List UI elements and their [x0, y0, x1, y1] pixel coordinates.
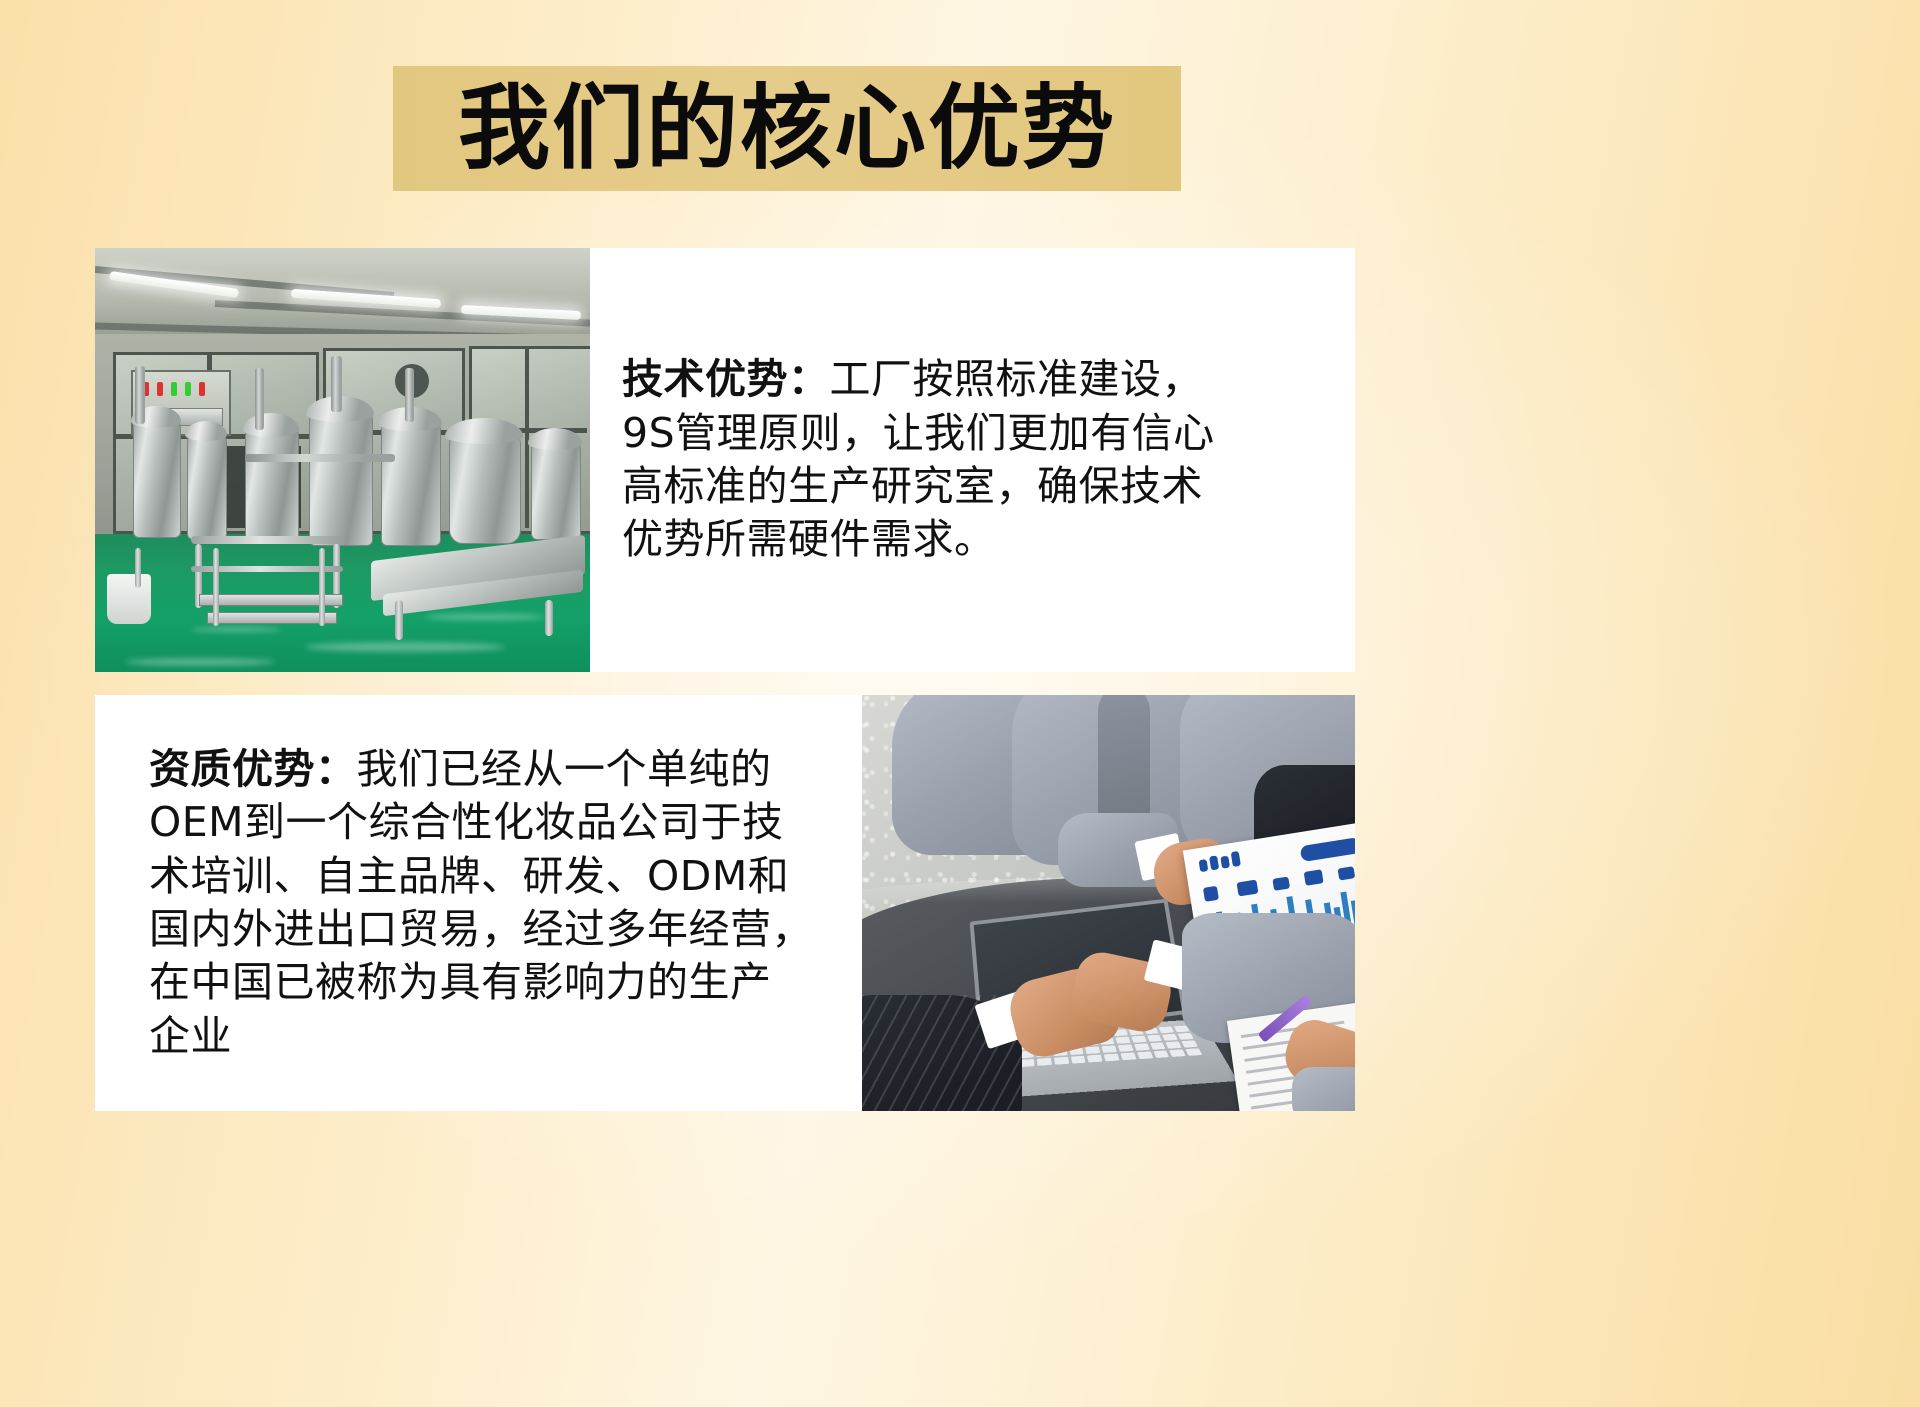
qualification-advantage-line-3: 术培训、自主品牌、研发、ODM和	[149, 850, 836, 903]
tech-advantage-paragraph: 技术优势：工厂按照标准建设， 9S管理原则，让我们更加有信心 高标准的生产研究室…	[622, 353, 1327, 566]
qualification-advantage-line-1: 资质优势：我们已经从一个单纯的	[149, 743, 836, 796]
qualification-advantage-line-5: 在中国已被称为具有影响力的生产	[149, 956, 836, 1009]
tech-advantage-line-3: 高标准的生产研究室，确保技术	[622, 460, 1327, 513]
advantage-card-tech: 技术优势：工厂按照标准建设， 9S管理原则，让我们更加有信心 高标准的生产研究室…	[95, 248, 1355, 672]
tech-advantage-line-2: 9S管理原则，让我们更加有信心	[622, 407, 1327, 460]
qualification-advantage-line-2: OEM到一个综合性化妆品公司于技	[149, 796, 836, 849]
factory-production-workshop-photo	[95, 248, 590, 672]
tech-advantage-line-4: 优势所需硬件需求。	[622, 513, 1327, 566]
business-handshake-meeting-photo	[862, 695, 1355, 1111]
tech-advantage-line-1: 技术优势：工厂按照标准建设，	[622, 353, 1327, 406]
qualification-advantage-text-panel: 资质优势：我们已经从一个单纯的 OEM到一个综合性化妆品公司于技 术培训、自主品…	[95, 695, 862, 1111]
qualification-advantage-line-6: 企业	[149, 1010, 836, 1063]
page-title-banner: 我们的核心优势	[393, 66, 1181, 191]
tech-advantage-text-panel: 技术优势：工厂按照标准建设， 9S管理原则，让我们更加有信心 高标准的生产研究室…	[590, 248, 1355, 672]
qualification-advantage-paragraph: 资质优势：我们已经从一个单纯的 OEM到一个综合性化妆品公司于技 术培训、自主品…	[149, 743, 836, 1063]
advantage-card-qualification: 资质优势：我们已经从一个单纯的 OEM到一个综合性化妆品公司于技 术培训、自主品…	[95, 695, 1355, 1111]
qualification-advantage-line-4: 国内外进出口贸易，经过多年经营，	[149, 903, 836, 956]
lead-label: 资质优势：	[149, 745, 357, 793]
lead-label: 技术优势：	[622, 355, 830, 403]
page-title: 我们的核心优势	[458, 83, 1116, 175]
